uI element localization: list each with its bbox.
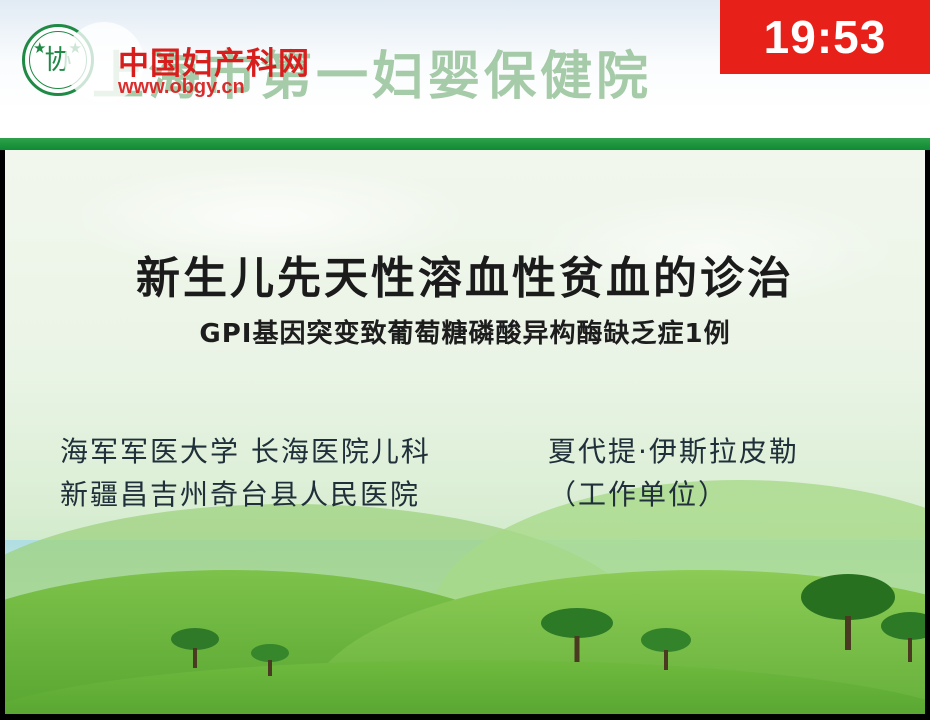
tree-canopy [171,628,219,650]
affiliation-line-2: 新疆昌吉州奇台县人民医院 [60,473,431,516]
tree-icon [250,636,290,676]
tree-trunk [664,650,668,670]
site-url-text: www.obgy.cn [118,76,245,99]
presentation-slide: 新生儿先天性溶血性贫血的诊治 GPI基因突变致葡萄糖磷酸异构酶缺乏症1例 海军军… [0,150,930,720]
tree-icon [170,622,220,668]
video-slide-screen: ★ ★ 协 上海市第一妇婴保健院 中国妇产科网 www.obgy.cn 19:5… [0,0,930,720]
author-organization: （工作单位） [548,473,799,516]
broadcast-header: ★ ★ 协 上海市第一妇婴保健院 中国妇产科网 www.obgy.cn 19:5… [0,0,930,138]
letterbox-bottom [0,714,930,720]
letterbox-right [925,150,930,720]
timer-value: 19:53 [764,10,887,64]
tree-trunk [575,636,580,662]
tree-canopy [881,612,930,640]
tree-icon [640,622,692,670]
slide-title: 新生儿先天性溶血性贫血的诊治 [0,242,930,306]
tree-icon [540,600,614,662]
tree-trunk [193,648,197,668]
affiliation-line-1: 海军军医大学 长海医院儿科 [60,430,431,473]
tree-canopy [541,608,613,638]
affiliation-block: 海军军医大学 长海医院儿科 新疆昌吉州奇台县人民医院 [60,430,431,517]
letterbox-left [0,150,5,720]
tree-trunk [908,638,912,662]
tree-canopy [641,628,691,652]
tree-trunk [845,616,851,650]
star-icon: ★ [33,41,46,56]
slide-subtitle: GPI基因突变致葡萄糖磷酸异构酶缺乏症1例 [0,313,930,350]
tree-trunk [268,660,272,676]
header-divider [0,138,930,150]
tree-icon [880,606,930,662]
countdown-timer: 19:53 [720,0,930,74]
author-block: 夏代提·伊斯拉皮勒 （工作单位） [548,430,799,517]
author-name: 夏代提·伊斯拉皮勒 [548,430,799,473]
